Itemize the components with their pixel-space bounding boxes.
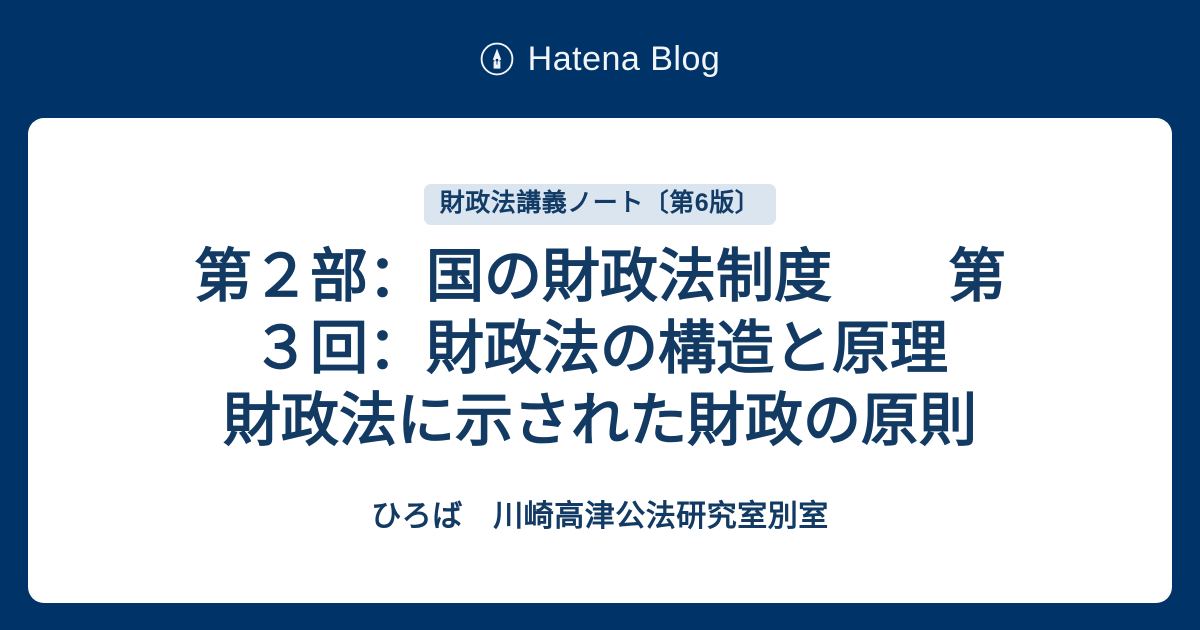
page-title-line-2: ３回：財政法の構造と原理 [252,316,948,381]
hatena-pen-nib-icon [480,42,514,76]
blog-name[interactable]: ひろば 川崎高津公法研究室別室 [371,499,829,535]
page-title: 第２部：国の財政法制度 第 ３回：財政法の構造と原理 財政法に示された財政の原則 [194,241,1006,457]
brand-name: Hatena Blog [528,42,721,76]
page-title-line-1: 第２部：国の財政法制度 第 [194,244,1006,309]
content-panel-inner: 財政法講義ノート〔第6版〕 第２部：国の財政法制度 第 ３回：財政法の構造と原理… [28,118,1172,535]
category-badge[interactable]: 財政法講義ノート〔第6版〕 [424,184,776,225]
brand-header: Hatena Blog [0,0,1200,118]
hatena-blog-og-card: Hatena Blog 財政法講義ノート〔第6版〕 第２部：国の財政法制度 第 … [0,0,1200,630]
page-title-line-3: 財政法に示された財政の原則 [223,388,977,453]
category-badge-row: 財政法講義ノート〔第6版〕 [68,184,1132,225]
content-panel: 財政法講義ノート〔第6版〕 第２部：国の財政法制度 第 ３回：財政法の構造と原理… [28,118,1172,603]
